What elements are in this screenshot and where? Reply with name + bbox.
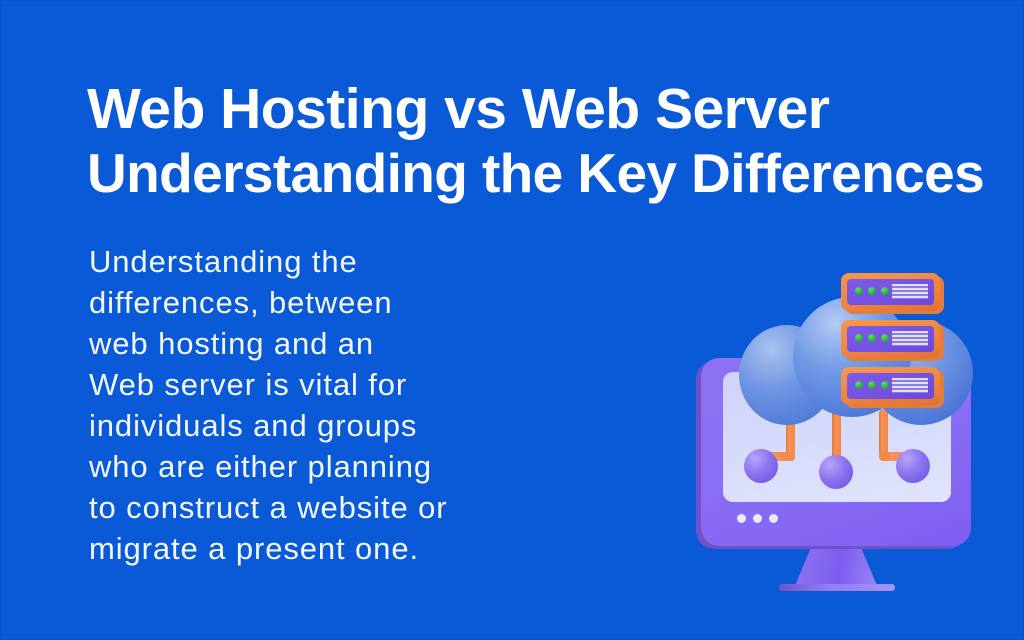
server-panel [847, 326, 934, 352]
server-unit-icon [841, 367, 940, 405]
body-line: differences, between [89, 282, 609, 323]
cable-joint-icon [879, 452, 888, 461]
server-grille-icon [892, 331, 928, 346]
server-panel [847, 279, 934, 305]
body-copy: Understanding the differences, between w… [89, 241, 609, 569]
network-node-icon [819, 455, 853, 489]
status-led-icon [868, 334, 876, 342]
headline-line-1: Web Hosting vs Web Server [87, 75, 967, 143]
server-grille-icon [892, 284, 928, 299]
cloud-hosting-illustration [691, 259, 991, 589]
cable-joint-icon [786, 452, 795, 461]
status-led-icon [855, 381, 863, 389]
status-led-icon [881, 381, 889, 389]
status-led-icon [868, 381, 876, 389]
bezel-dot-icon [769, 514, 778, 523]
bezel-dot-icon [737, 514, 746, 523]
body-line: individuals and groups [89, 405, 609, 446]
server-unit-icon [841, 320, 940, 358]
server-panel [847, 373, 934, 399]
headline-line-2: Understanding the Key Differences [87, 141, 967, 205]
network-node-icon [744, 449, 778, 483]
status-led-icon [881, 287, 889, 295]
status-led-icon [855, 287, 863, 295]
monitor-stand-base [779, 584, 895, 591]
bezel-dot-icon [753, 514, 762, 523]
server-stack-icon [841, 273, 945, 407]
body-line: who are either planning [89, 446, 609, 487]
server-unit-icon [841, 273, 940, 311]
status-led-icon [868, 287, 876, 295]
network-node-icon [896, 449, 930, 483]
body-line: Understanding the [89, 241, 609, 282]
server-grille-icon [892, 378, 928, 393]
status-led-icon [855, 334, 863, 342]
monitor-stand-neck [794, 544, 878, 588]
status-led-icon [881, 334, 889, 342]
body-line: Web server is vital for [89, 364, 609, 405]
cable-segment-icon [879, 409, 888, 457]
cable-segment-icon [832, 409, 841, 461]
body-line: to construct a website or [89, 487, 609, 528]
headline-block: Web Hosting vs Web Server Understanding … [87, 75, 967, 205]
body-line: web hosting and an [89, 323, 609, 364]
body-line: migrate a present one. [89, 528, 609, 569]
promo-banner: Web Hosting vs Web Server Understanding … [0, 0, 1024, 640]
